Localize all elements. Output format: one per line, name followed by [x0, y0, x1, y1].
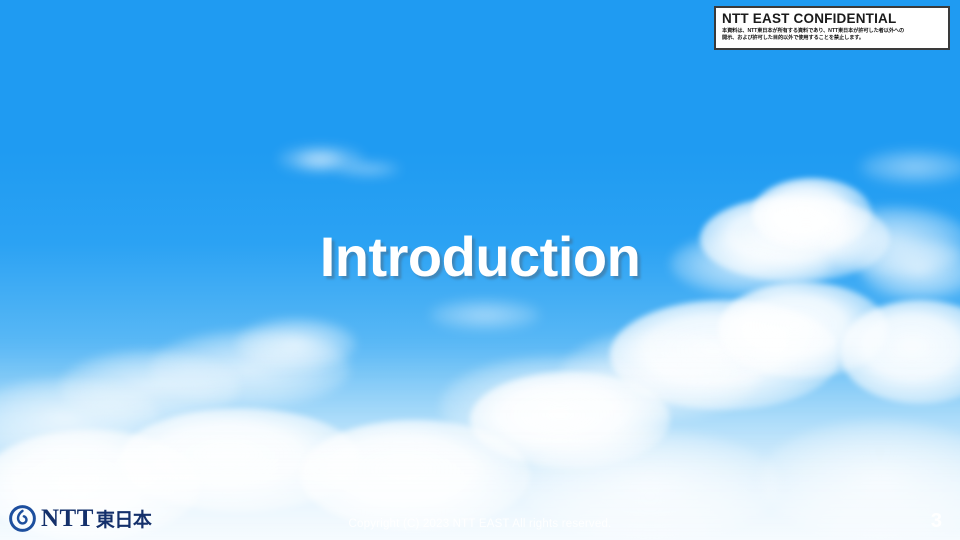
page-title: Introduction: [0, 224, 960, 289]
page-number: 3: [931, 510, 942, 533]
cloud-puff: [236, 318, 356, 370]
confidential-line-2: 開示、および許可した目的以外で使用することを禁止します。: [722, 35, 943, 42]
cloud-puff: [440, 356, 670, 456]
cloud-puff: [300, 420, 530, 530]
cloud-puff: [718, 282, 888, 378]
cloud-wisp: [430, 300, 540, 330]
cloud-puff: [470, 372, 670, 468]
confidential-notice: NTT EAST CONFIDENTIAL 本資料は、NTT東日本が所有する資料…: [714, 6, 950, 50]
cloud-wisp: [296, 152, 344, 168]
cloud-wisp: [278, 146, 364, 172]
cloud-puff: [120, 408, 360, 512]
cloud-wisp: [336, 162, 400, 176]
cloud-puff: [0, 378, 160, 458]
cloud-puff: [150, 330, 350, 408]
cloud-puff: [560, 330, 760, 420]
confidential-title: NTT EAST CONFIDENTIAL: [722, 11, 943, 26]
slide: NTT EAST CONFIDENTIAL 本資料は、NTT東日本が所有する資料…: [0, 0, 960, 540]
cloud-puff: [60, 350, 240, 424]
copyright-text: Copyright (C) 2023 NTT EAST All rights r…: [0, 518, 960, 530]
cloud-puff: [610, 300, 840, 410]
cloud-wisp: [860, 150, 960, 184]
cloud-puff: [840, 300, 960, 404]
